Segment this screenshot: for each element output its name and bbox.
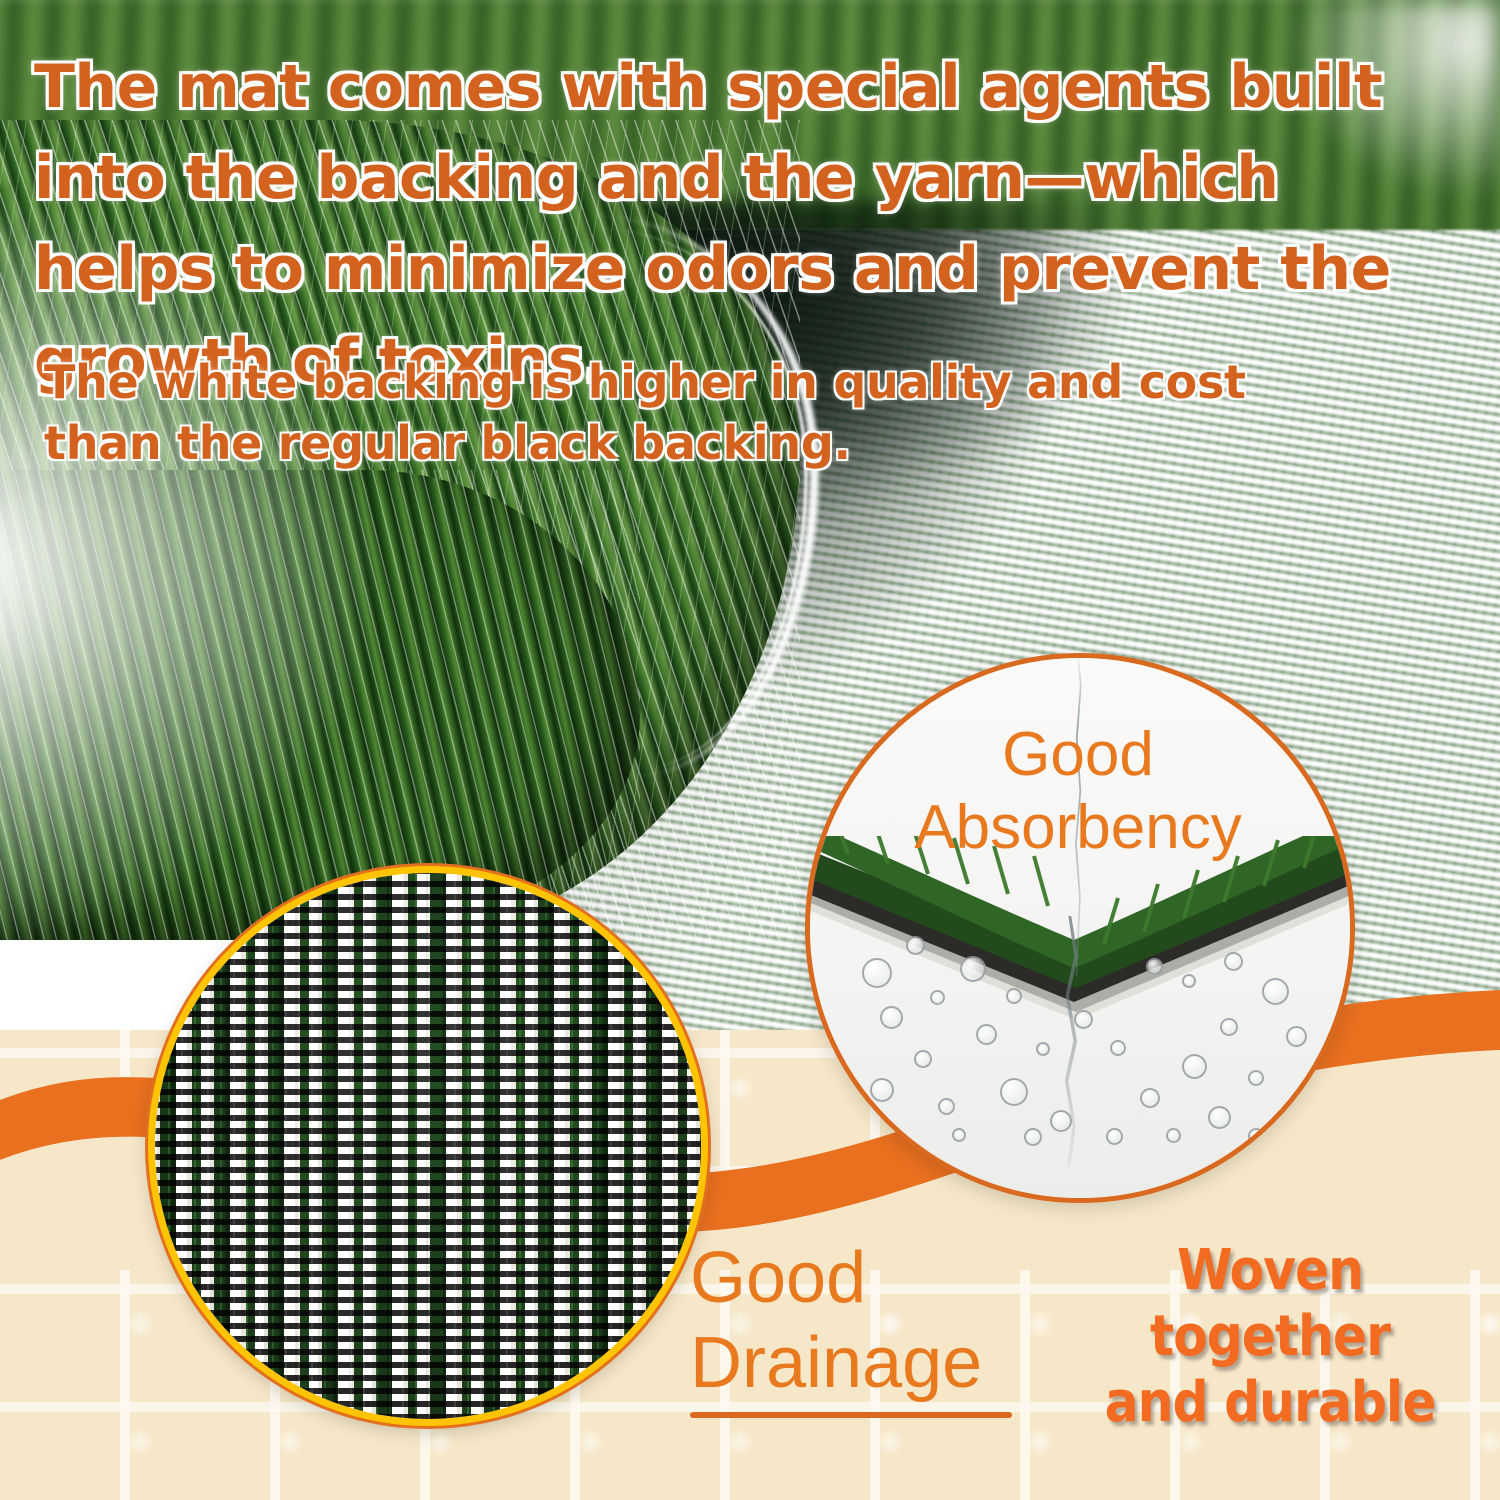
absorbency-label: Good Absorbency	[835, 718, 1321, 864]
drainage-label: Good Drainage	[690, 1236, 1110, 1406]
drainage-label-line1: Good	[690, 1236, 1110, 1321]
woven-label-line1: Woven together	[1060, 1238, 1480, 1370]
woven-texture-highlight	[155, 873, 701, 1419]
woven-label-line2: and durable	[1060, 1370, 1480, 1436]
drainage-label-line2: Drainage	[690, 1321, 1110, 1406]
absorbency-label-line1: Good	[835, 718, 1321, 791]
subheadline-text: The white backing is higher in quality a…	[44, 352, 1304, 474]
absorbency-label-line2: Absorbency	[835, 791, 1321, 864]
drainage-label-underline	[690, 1412, 1012, 1418]
drainage-callout-circle	[148, 866, 708, 1426]
woven-durable-label: Woven together and durable	[1060, 1238, 1480, 1436]
product-infographic: The mat comes with special agents built …	[0, 0, 1500, 1500]
